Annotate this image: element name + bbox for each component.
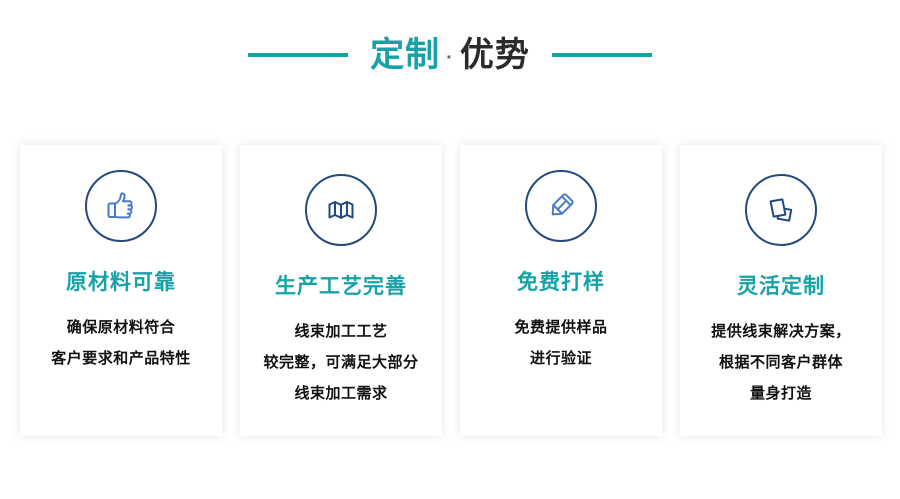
feature-card-raw-material[interactable]: 原材料可靠 确保原材料符合 客户要求和产品特性 <box>20 145 222 436</box>
feature-card-description: 免费提供样品 进行验证 <box>514 312 607 374</box>
feature-card-description-line: 提供线束解决方案， <box>711 316 851 347</box>
feature-card-description-line: 客户要求和产品特性 <box>51 343 191 374</box>
feature-card-description-line: 确保原材料符合 <box>51 312 191 343</box>
feature-card-description: 线束加工工艺 较完整，可满足大部分 线束加工需求 <box>263 316 418 409</box>
page-title-main: 优势 <box>460 38 530 72</box>
page-title: 定制 · 优势 <box>370 38 530 72</box>
feature-cards-row: 原材料可靠 确保原材料符合 客户要求和产品特性 生产工艺完善 线束加工工艺 较完… <box>20 145 886 436</box>
page-title-accent: 定制 <box>370 38 440 72</box>
feature-card-description-line: 免费提供样品 <box>514 312 607 343</box>
thumbs-up-icon <box>85 170 157 242</box>
page-title-separator: · <box>446 48 454 68</box>
feature-card-flexible-customization[interactable]: 灵活定制 提供线束解决方案， 根据不同客户群体 量身打造 <box>680 145 882 436</box>
heading-rule-left <box>248 53 348 57</box>
feature-card-title: 免费打样 <box>517 270 605 295</box>
feature-card-description-line: 量身打造 <box>711 378 851 409</box>
feature-card-description: 确保原材料符合 客户要求和产品特性 <box>51 312 191 374</box>
feature-card-production-process[interactable]: 生产工艺完善 线束加工工艺 较完整，可满足大部分 线束加工需求 <box>240 145 442 436</box>
feature-card-description: 提供线束解决方案， 根据不同客户群体 量身打造 <box>711 316 851 409</box>
feature-card-title: 生产工艺完善 <box>275 274 407 299</box>
feature-card-free-sample[interactable]: 免费打样 免费提供样品 进行验证 <box>460 145 662 436</box>
heading-rule-right <box>552 53 652 57</box>
section-header: 定制 · 优势 <box>0 0 900 110</box>
feature-card-description-line: 根据不同客户群体 <box>711 347 851 378</box>
feature-card-description-line: 进行验证 <box>514 343 607 374</box>
feature-card-description-line: 线束加工需求 <box>263 378 418 409</box>
folded-map-icon <box>305 174 377 246</box>
stacked-cards-icon <box>745 174 817 246</box>
feature-card-description-line: 较完整，可满足大部分 <box>263 347 418 378</box>
feature-card-title: 原材料可靠 <box>66 270 176 295</box>
feature-card-title: 灵活定制 <box>737 274 825 299</box>
feature-card-description-line: 线束加工工艺 <box>263 316 418 347</box>
pencil-icon <box>525 170 597 242</box>
